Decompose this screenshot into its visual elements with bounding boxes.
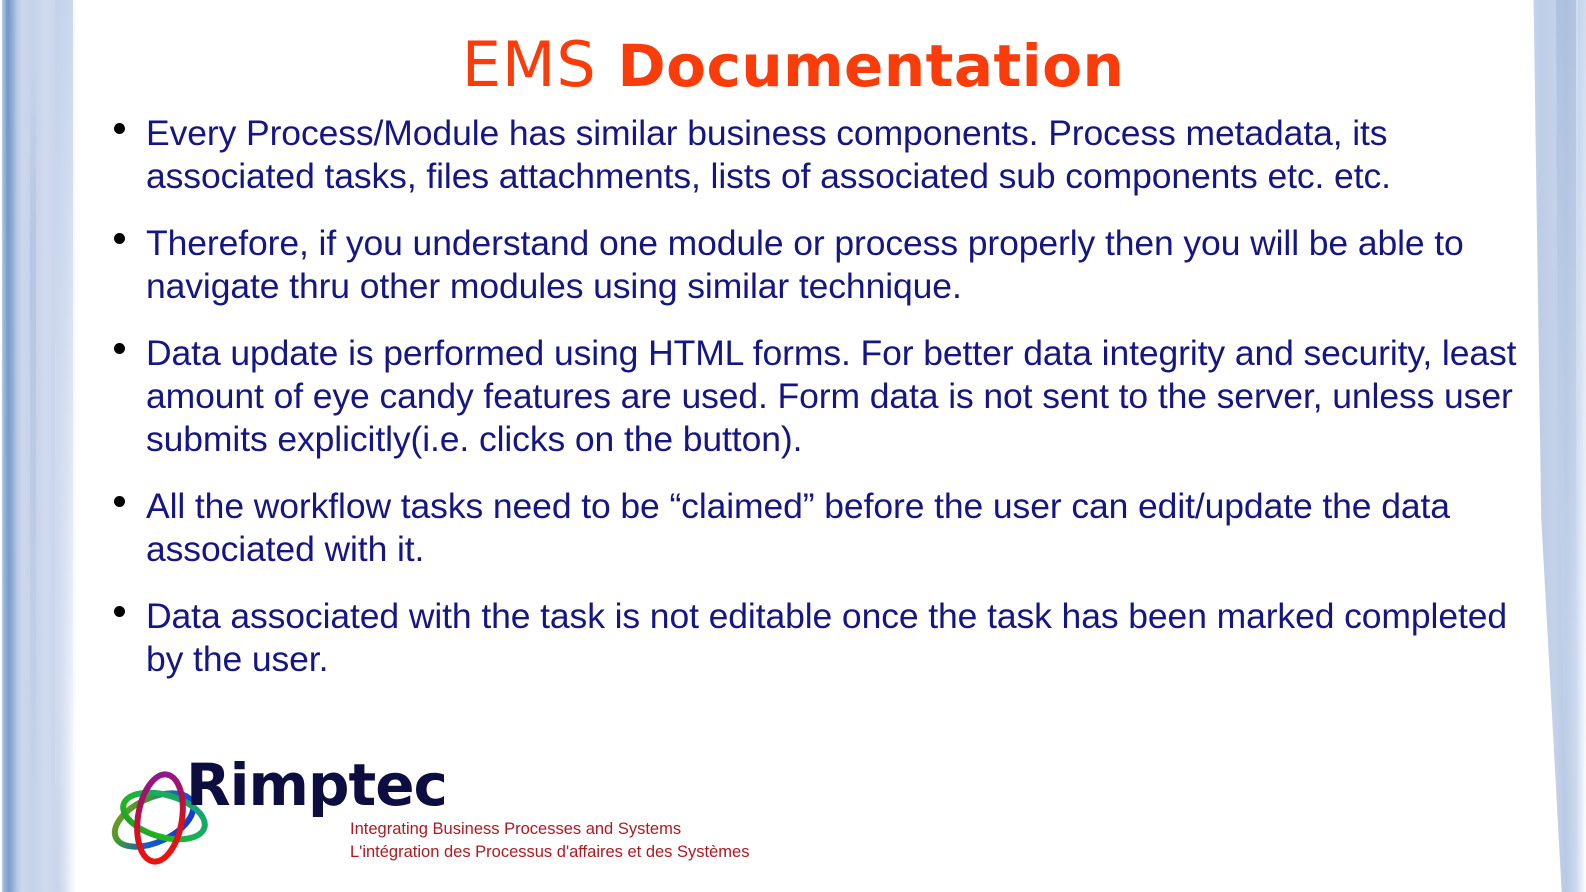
slide-title-light: EMS bbox=[462, 28, 597, 101]
bullet-dot-icon bbox=[114, 606, 125, 617]
bullet-item-1: Every Process/Module has similar busines… bbox=[104, 112, 1524, 198]
slide-canvas: EMS Documentation Every Process/Module h… bbox=[0, 0, 1586, 892]
rimptec-logo: Rimptec Integrating Business Processes a… bbox=[108, 756, 808, 876]
bullet-dot-icon bbox=[114, 496, 125, 507]
slide-title: EMS Documentation bbox=[0, 34, 1586, 96]
bullet-dot-icon bbox=[114, 233, 125, 244]
left-brush-streak-light bbox=[55, 0, 73, 892]
right-brush-streak-mid bbox=[1556, 0, 1576, 892]
tagline-english: Integrating Business Processes and Syste… bbox=[350, 818, 749, 841]
rimptec-wordmark: Rimptec bbox=[186, 756, 447, 814]
bullet-text-3: Data update is performed using HTML form… bbox=[146, 332, 1524, 461]
bullet-text-5: Data associated with the task is not edi… bbox=[146, 595, 1524, 681]
bullet-text-4: All the workflow tasks need to be “claim… bbox=[146, 485, 1524, 571]
rimptec-taglines: Integrating Business Processes and Syste… bbox=[350, 818, 749, 864]
bullet-item-5: Data associated with the task is not edi… bbox=[104, 595, 1524, 681]
bullet-dot-icon bbox=[114, 123, 125, 134]
bullet-item-4: All the workflow tasks need to be “claim… bbox=[104, 485, 1524, 571]
slide-title-space bbox=[597, 28, 618, 101]
bullet-item-2: Therefore, if you understand one module … bbox=[104, 222, 1524, 308]
bullet-item-3: Data update is performed using HTML form… bbox=[104, 332, 1524, 461]
tagline-french: L'intégration des Processus d'affaires e… bbox=[350, 841, 749, 864]
bullet-text-1: Every Process/Module has similar busines… bbox=[146, 112, 1524, 198]
right-brush-band bbox=[1522, 0, 1586, 892]
left-brush-streak-mid bbox=[30, 60, 36, 820]
right-brush-streak-edge bbox=[1578, 0, 1586, 892]
slide-title-bold: Documentation bbox=[617, 32, 1124, 100]
left-brush-band bbox=[0, 0, 80, 892]
bullet-dot-icon bbox=[114, 343, 125, 354]
bullet-text-2: Therefore, if you understand one module … bbox=[146, 222, 1524, 308]
bullet-list: Every Process/Module has similar busines… bbox=[104, 112, 1524, 681]
